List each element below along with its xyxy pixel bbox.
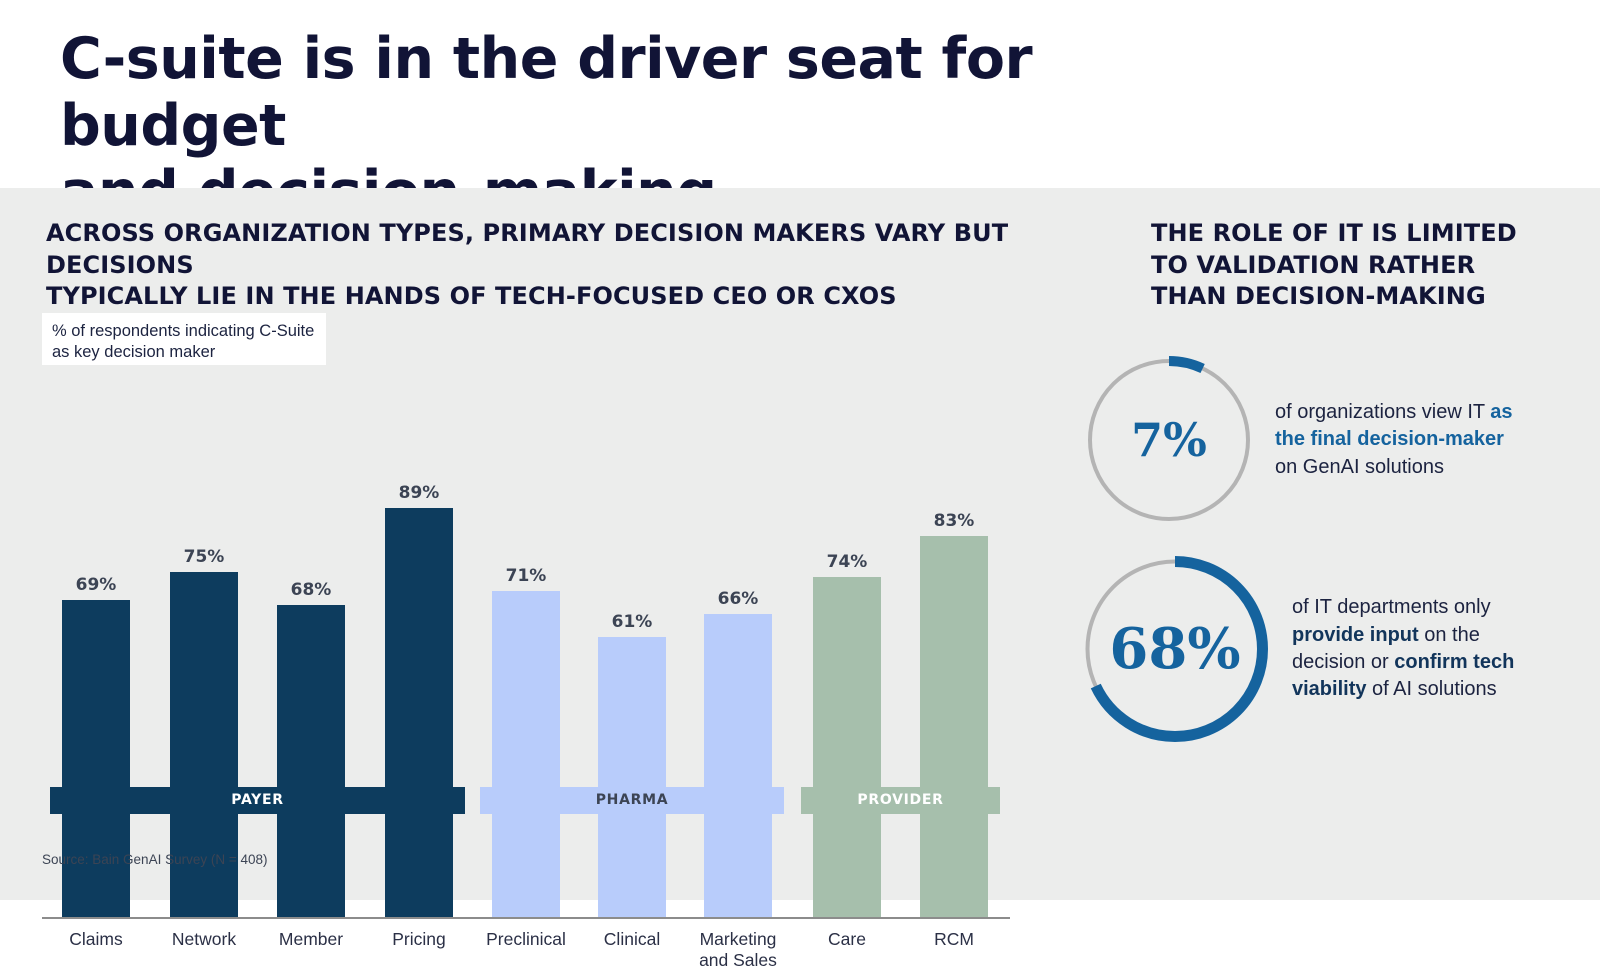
donut-value-label: 68% bbox=[1082, 556, 1268, 742]
stat-text-fragment: provide input bbox=[1292, 624, 1419, 646]
bar-value-label: 83% bbox=[934, 511, 975, 531]
infographic-page: C-suite is in the driver seat for budget… bbox=[0, 0, 1600, 900]
source-note: Source: Bain GenAI Survey (N = 408) bbox=[42, 852, 268, 867]
bar[interactable] bbox=[492, 591, 560, 917]
x-axis-tick-label: Network bbox=[148, 929, 260, 950]
header-band: C-suite is in the driver seat for budget… bbox=[0, 0, 1600, 188]
bar[interactable] bbox=[813, 577, 881, 917]
bar-value-label: 89% bbox=[399, 483, 440, 503]
group-band-pharma[interactable]: PHARMA bbox=[480, 787, 784, 814]
bar-value-label: 69% bbox=[76, 575, 117, 595]
x-axis-tick-label: RCM bbox=[898, 929, 1010, 950]
x-axis-tick-label: Pricing bbox=[363, 929, 475, 950]
left-panel-heading: ACROSS ORGANIZATION TYPES, PRIMARY DECIS… bbox=[46, 218, 1086, 313]
x-axis-tick-label: Clinical bbox=[576, 929, 688, 950]
bar-value-label: 61% bbox=[612, 612, 653, 632]
x-axis-tick-label: Preclinical bbox=[470, 929, 582, 950]
bar-value-label: 74% bbox=[827, 552, 868, 572]
stat-block: 7%of organizations view IT as the final … bbox=[1085, 356, 1525, 524]
group-band-payer[interactable]: PAYER bbox=[50, 787, 465, 814]
x-axis-tick-label: Care bbox=[791, 929, 903, 950]
x-axis-tick-label: Claims bbox=[40, 929, 152, 950]
bar[interactable] bbox=[385, 508, 453, 917]
bar-column[interactable]: 68% bbox=[277, 605, 345, 917]
stat-description: of organizations view IT as the final de… bbox=[1275, 399, 1525, 481]
bar[interactable] bbox=[62, 600, 130, 917]
stat-text-fragment: on GenAI solutions bbox=[1275, 456, 1444, 478]
donut-chart: 7% bbox=[1085, 356, 1253, 524]
donut-chart: 68% bbox=[1082, 556, 1268, 742]
bar-column[interactable]: 71% bbox=[492, 591, 560, 917]
x-axis-tick-label: Member bbox=[255, 929, 367, 950]
legend-note-box: % of respondents indicating C-Suite as k… bbox=[42, 313, 326, 365]
bar[interactable] bbox=[920, 536, 988, 917]
group-band-provider[interactable]: PROVIDER bbox=[801, 787, 1000, 814]
bar-column[interactable]: 66% bbox=[704, 614, 772, 917]
bar-column[interactable]: 69% bbox=[62, 600, 130, 917]
bar-value-label: 75% bbox=[184, 547, 225, 567]
donut-value-label: 7% bbox=[1085, 356, 1253, 524]
bar-value-label: 68% bbox=[291, 580, 332, 600]
stat-block: 68%of IT departments only provide input … bbox=[1082, 556, 1542, 742]
right-panel-heading: THE ROLE OF IT IS LIMITED TO VALIDATION … bbox=[1151, 218, 1551, 313]
stat-text-fragment: of organizations view IT bbox=[1275, 401, 1490, 423]
x-axis-line bbox=[42, 917, 1010, 919]
stat-description: of IT departments only provide input on … bbox=[1292, 594, 1542, 704]
bar-chart: 69%Claims75%Network68%Member89%Pricing71… bbox=[42, 384, 1010, 919]
bar-column[interactable]: 83% bbox=[920, 536, 988, 917]
bar-value-label: 71% bbox=[506, 566, 547, 586]
x-axis-tick-label: Marketing and Sales bbox=[682, 929, 794, 972]
bar-column[interactable]: 61% bbox=[598, 637, 666, 917]
bar[interactable] bbox=[277, 605, 345, 917]
bar[interactable] bbox=[704, 614, 772, 917]
body-band: ACROSS ORGANIZATION TYPES, PRIMARY DECIS… bbox=[0, 188, 1600, 900]
bar-column[interactable]: 89% bbox=[385, 508, 453, 917]
legend-note-text: % of respondents indicating C-Suite as k… bbox=[52, 321, 316, 363]
chart-plot-area: 69%Claims75%Network68%Member89%Pricing71… bbox=[42, 384, 1010, 918]
stat-text-fragment: of AI solutions bbox=[1366, 678, 1496, 700]
bar[interactable] bbox=[598, 637, 666, 917]
bar-value-label: 66% bbox=[718, 589, 759, 609]
bar-column[interactable]: 74% bbox=[813, 577, 881, 917]
stat-text-fragment: of IT departments only bbox=[1292, 596, 1491, 618]
